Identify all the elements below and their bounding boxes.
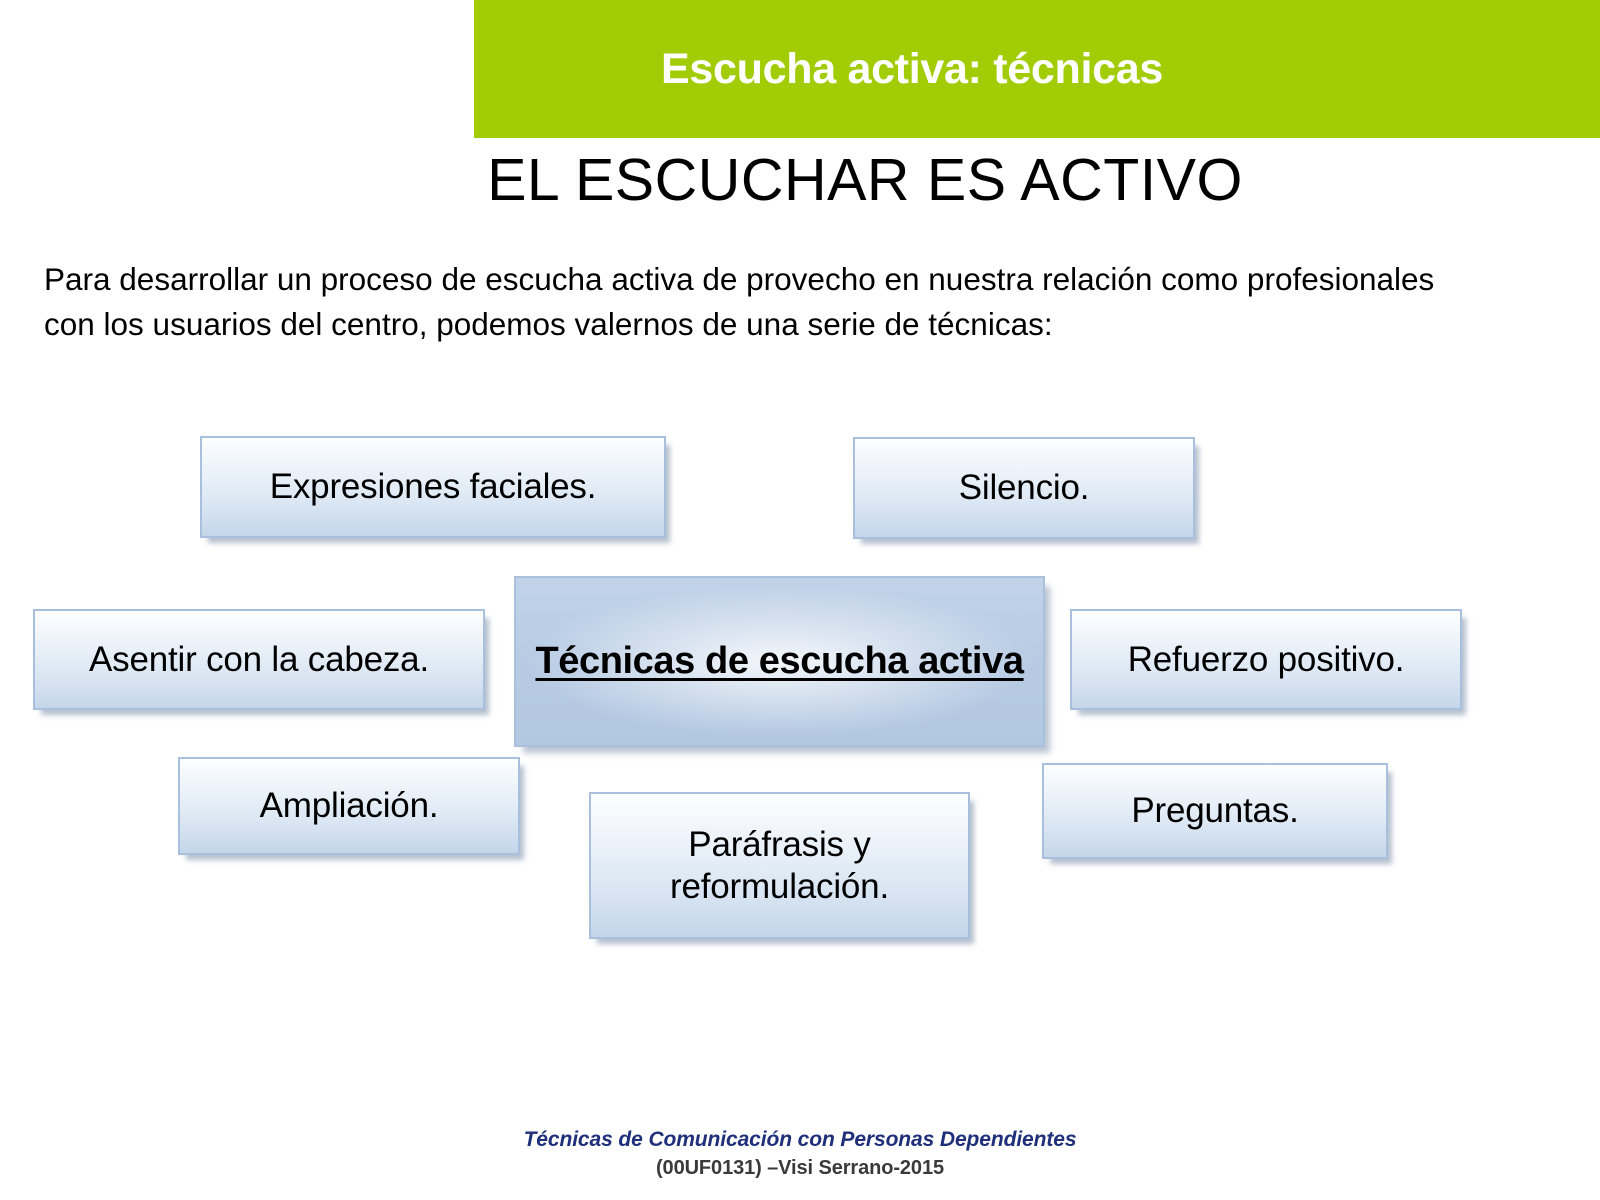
- footer-course-title: Técnicas de Comunicación con Personas De…: [0, 1128, 1600, 1152]
- intro-paragraph: Para desarrollar un proceso de escucha a…: [44, 257, 1464, 346]
- diagram-node-preguntas[interactable]: Preguntas.: [1042, 763, 1388, 859]
- diagram-node-expresiones-faciales[interactable]: Expresiones faciales.: [200, 436, 666, 538]
- diagram-node-silencio[interactable]: Silencio.: [853, 437, 1195, 539]
- node-label: Preguntas.: [1123, 790, 1306, 831]
- node-label: Ampliación.: [252, 785, 447, 826]
- diagram-node-parafrasis-y-reformulacion[interactable]: Paráfrasis y reformulación.: [589, 792, 970, 939]
- node-label: Paráfrasis y reformulación.: [591, 824, 968, 907]
- header-title: Escucha activa: técnicas: [661, 45, 1163, 94]
- node-label: Silencio.: [951, 467, 1098, 508]
- center-node-label: Técnicas de escucha activa: [527, 635, 1031, 689]
- slide-footer: Técnicas de Comunicación con Personas De…: [0, 1128, 1600, 1180]
- diagram-node-ampliacion[interactable]: Ampliación.: [178, 757, 520, 855]
- diagram-node-refuerzo-positivo[interactable]: Refuerzo positivo.: [1070, 609, 1462, 710]
- header-banner: Escucha activa: técnicas: [474, 0, 1600, 138]
- page-title: EL ESCUCHAR ES ACTIVO: [0, 146, 1600, 214]
- node-label: Asentir con la cabeza.: [81, 639, 437, 680]
- diagram-node-center-tecnicas-de-escucha-activa[interactable]: Técnicas de escucha activa: [514, 576, 1045, 747]
- node-label: Refuerzo positivo.: [1120, 639, 1413, 680]
- footer-course-code: (00UF0131) –Visi Serrano-2015: [0, 1157, 1600, 1180]
- node-label: Expresiones faciales.: [262, 466, 605, 507]
- diagram-node-asentir-con-la-cabeza[interactable]: Asentir con la cabeza.: [33, 609, 485, 710]
